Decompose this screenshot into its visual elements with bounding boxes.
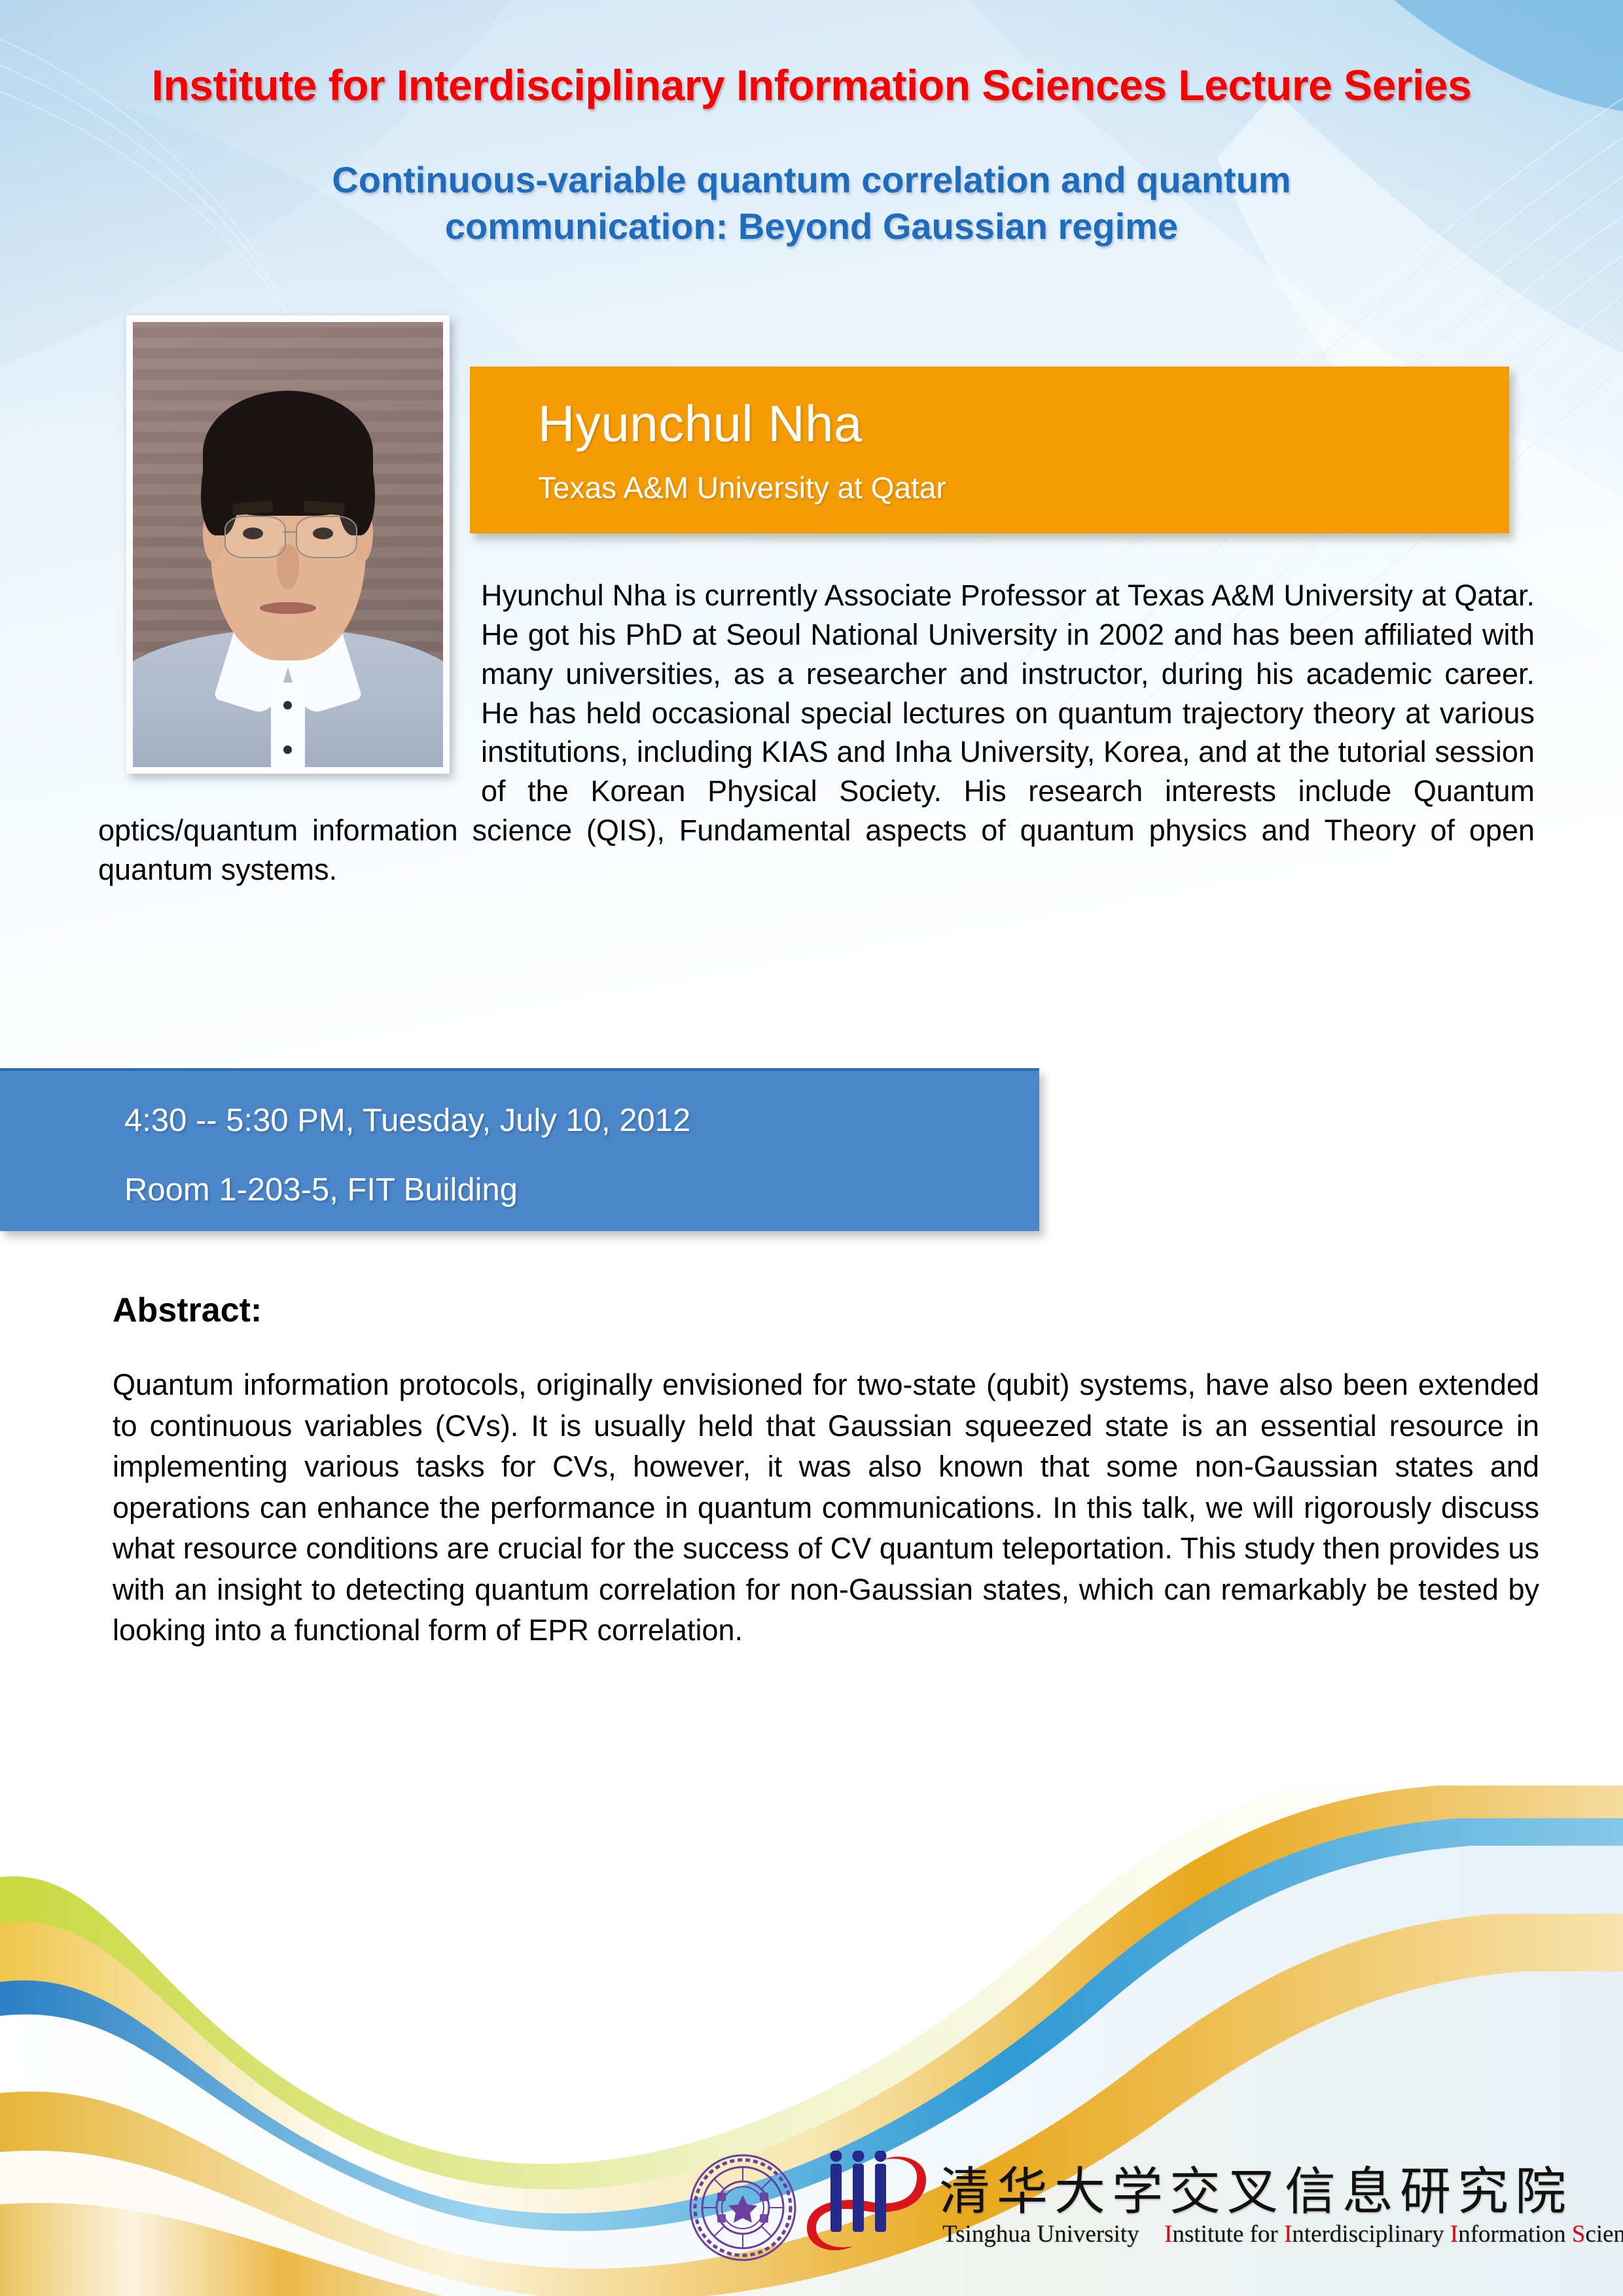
- speaker-banner: Hyunchul Nha Texas A&M University at Qat…: [470, 367, 1509, 533]
- schedule-banner: 4:30 -- 5:30 PM, Tuesday, July 10, 2012 …: [0, 1068, 1039, 1231]
- bio-photo-wrap-spacer: [98, 576, 481, 778]
- footer-english-row: Tsinghua University Institute for Interd…: [942, 2220, 1623, 2248]
- speaker-bio: Hyunchul Nha is currently Associate Prof…: [98, 576, 1535, 889]
- abstract-body: Quantum information protocols, originall…: [113, 1365, 1539, 1651]
- speaker-name: Hyunchul Nha: [538, 394, 863, 454]
- photo-eyeglass-left: [224, 516, 286, 558]
- schedule-location: Room 1-203-5, FIT Building: [124, 1172, 518, 1208]
- speaker-affiliation: Texas A&M University at Qatar: [538, 470, 946, 505]
- footer-logo: 清华大学交叉信息研究院 Tsinghua University Institut…: [674, 2147, 1610, 2287]
- series-title: Institute for Interdisciplinary Informat…: [0, 60, 1623, 110]
- institute-name-en: Institute for Interdisciplinary Informat…: [1164, 2221, 1623, 2248]
- institute-chinese-name: 清华大学交叉信息研究院: [939, 2151, 1573, 2224]
- tsinghua-seal-icon: [687, 2152, 798, 2263]
- lecture-title: Continuous-variable quantum correlation …: [196, 157, 1427, 249]
- photo-eyeglass-right: [296, 516, 357, 558]
- abstract-heading: Abstract:: [113, 1291, 262, 1330]
- photo-eyeglass-bridge: [283, 531, 296, 533]
- lecture-poster: Institute for Interdisciplinary Informat…: [0, 0, 1623, 2296]
- university-name-en: Tsinghua University: [942, 2221, 1139, 2248]
- iiis-logo-mark-icon: [802, 2151, 929, 2265]
- schedule-time: 4:30 -- 5:30 PM, Tuesday, July 10, 2012: [124, 1102, 690, 1139]
